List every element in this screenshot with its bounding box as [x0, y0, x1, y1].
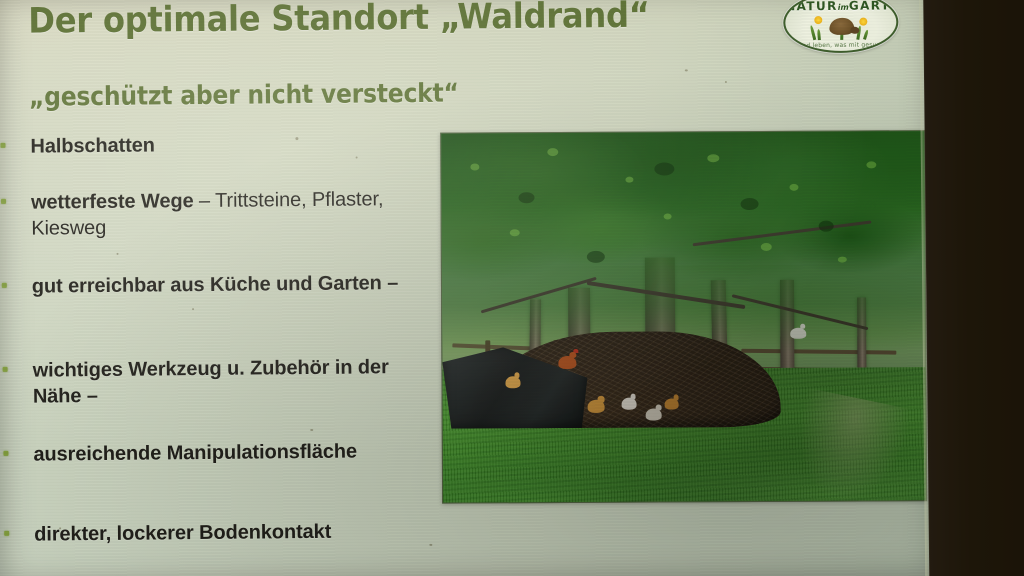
leaf-speck [789, 183, 798, 190]
list-item-text: Halbschatten [30, 130, 425, 160]
page-title: Der optimale Standort „Waldrand“ [28, 0, 672, 43]
slide-content: Der optimale Standort „Waldrand“ „geschü… [0, 0, 941, 576]
list-item-text: gut erreichbar aus Küche und Garten – [32, 270, 427, 300]
grass-icon [817, 29, 821, 40]
leaf-speck [470, 163, 479, 170]
list-item-bold: direkter, lockerer Bodenkontakt [34, 521, 331, 546]
dust-speck [310, 429, 313, 431]
chicken [558, 356, 576, 369]
list-item: Halbschatten [0, 130, 425, 160]
list-item: wetterfeste Wege – Trittsteine, Pflaster… [1, 186, 426, 242]
list-item: direkter, lockerer Bodenkontakt [4, 518, 429, 548]
dust-speck [295, 137, 298, 140]
dust-speck [429, 544, 432, 546]
logo-artwork [785, 11, 896, 42]
bullet-dot-icon [0, 143, 5, 148]
list-item-text: ausreichende Manipulationsfläche [33, 438, 428, 468]
dust-speck [685, 69, 688, 71]
dandelion-icon [859, 18, 867, 26]
list-item-bold: gut erreichbar aus Küche und Garten – [32, 272, 399, 298]
chicken [645, 408, 661, 420]
list-item: wichtiges Werkzeug u. Zubehör in der Näh… [3, 354, 428, 410]
sheep [790, 327, 806, 338]
dust-speck [59, 527, 61, 529]
leaf-speck [548, 148, 559, 156]
dandelion-icon [814, 16, 822, 24]
chicken-comb [573, 349, 578, 353]
leaf-speck [509, 229, 519, 236]
chicken [505, 376, 520, 388]
list-item: gut erreichbar aus Küche und Garten – [2, 270, 427, 300]
chicken [665, 398, 679, 409]
photo-tree-canopy [440, 130, 927, 355]
grass-icon [810, 25, 817, 40]
leaf-speck [707, 154, 719, 162]
list-item-bold: wichtiges Werkzeug u. Zubehör in der Näh… [33, 356, 389, 407]
natur-im-garten-logo: NATURimGARTEN Gesund leben, was mit gesu… [783, 0, 899, 53]
hedgehog-icon [829, 18, 854, 35]
slide-surface: Der optimale Standort „Waldrand“ „geschü… [0, 0, 941, 576]
room-dark-area [923, 0, 1024, 576]
list-item-text: wetterfeste Wege – Trittsteine, Pflaster… [31, 186, 426, 242]
waldrand-compost-photo [440, 130, 927, 504]
page-subtitle: „geschützt aber nicht versteckt“ [29, 76, 587, 113]
leaf-shadow [654, 162, 674, 175]
dust-speck [117, 253, 119, 255]
list-item-text: direkter, lockerer Bodenkontakt [34, 518, 429, 548]
leaf-shadow [587, 251, 605, 263]
list-item: ausreichende Manipulationsfläche [3, 438, 428, 468]
leaf-speck [625, 177, 633, 183]
dust-speck [725, 81, 727, 83]
dust-speck [192, 308, 194, 310]
list-item-text: wichtiges Werkzeug u. Zubehör in der Näh… [33, 354, 428, 410]
bullet-dot-icon [3, 367, 8, 372]
logo-word-im: im [838, 3, 849, 12]
bullet-dot-icon [1, 199, 6, 204]
leaf-speck [761, 243, 772, 251]
leaf-speck [866, 161, 876, 168]
chicken [587, 400, 604, 413]
list-item-bold: ausreichende Manipulationsfläche [33, 441, 357, 466]
bullet-dot-icon [2, 283, 7, 288]
grass-icon [863, 29, 869, 39]
chicken [621, 397, 636, 409]
photo-path [786, 388, 911, 504]
list-item-bold: Halbschatten [30, 134, 155, 157]
dust-speck [356, 157, 358, 159]
bullet-dot-icon [4, 531, 9, 536]
projected-slide-photo: Der optimale Standort „Waldrand“ „geschü… [0, 0, 1024, 576]
leaf-shadow [818, 220, 833, 231]
list-item-bold: wetterfeste Wege [31, 190, 194, 214]
logo-tagline: Gesund leben, was mit gesund tut [786, 41, 897, 49]
bullet-dot-icon [3, 451, 8, 456]
